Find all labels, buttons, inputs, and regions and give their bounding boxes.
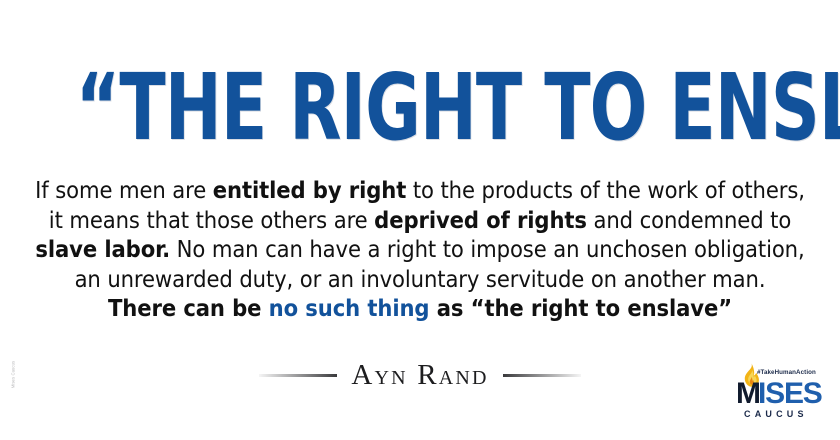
quote-line-3-emphasis: slave labor.	[35, 235, 170, 263]
edge-credit-watermark: Mises Caucus	[11, 344, 16, 406]
quote-line-2-text-a: it means that those others are	[49, 206, 374, 234]
quote-line-2-text-b: and condemned to	[587, 206, 791, 234]
quote-line-5-accent: no such thing	[269, 294, 430, 322]
attribution: Ayn Rand	[0, 358, 840, 392]
mises-caucus-logo[interactable]: #TakeHumanAction M ISES CAUCUS	[733, 362, 833, 428]
quote-line-2: it means that those others are deprived …	[14, 206, 826, 236]
quote-line-5-text-a: There can be	[108, 294, 269, 322]
headline: “THE RIGHT TO ENSLAVE”	[76, 58, 765, 158]
quote-line-5-text-b: as “the right to enslave”	[429, 294, 732, 322]
divider-rule-right	[503, 374, 581, 377]
quote-body: If some men are entitled by right to the…	[14, 176, 826, 324]
logo-wordmark-ises: ISES	[758, 379, 822, 409]
logo-subtitle: CAUCUS	[744, 409, 808, 419]
quote-line-3-text-b: No man can have a right to impose an unc…	[170, 235, 805, 263]
quote-poster: “THE RIGHT TO ENSLAVE” If some men are e…	[0, 0, 840, 440]
logo-wordmark: M ISES	[736, 379, 830, 409]
quote-line-1: If some men are entitled by right to the…	[14, 176, 826, 206]
quote-line-1-text-a: If some men are	[35, 176, 213, 204]
quote-line-4: an unrewarded duty, or an involuntary se…	[14, 265, 826, 295]
logo-tagline: #TakeHumanAction	[757, 369, 816, 376]
quote-line-2-emphasis: deprived of rights	[374, 206, 587, 234]
quote-line-5: There can be no such thing as “the right…	[14, 294, 826, 324]
quote-line-1-emphasis: entitled by right	[213, 176, 406, 204]
quote-line-1-text-b: to the products of the work of others,	[406, 176, 805, 204]
author-name: Ayn Rand	[351, 358, 488, 392]
quote-line-3: slave labor. No man can have a right to …	[14, 235, 826, 265]
logo-wordmark-m: M	[736, 379, 760, 409]
divider-rule-left	[259, 374, 337, 377]
